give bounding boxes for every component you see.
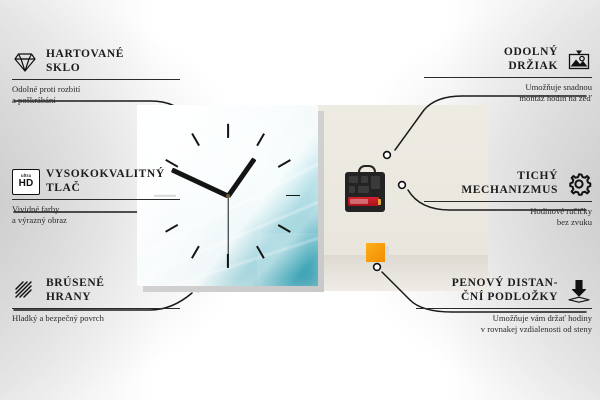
diamond-icon [12,49,38,75]
feature-description: Vividné farby a výrazný obraz [12,204,180,225]
foam-spacer-pad [366,243,385,262]
feature-description: Hladký a bezpečný povrch [12,313,180,324]
feature-divider [12,199,180,200]
feature-high-quality-print: ultraHD VYSOKOKVALITNÝ TLAČ Vividné farb… [12,168,180,225]
clock-hour-hand [225,157,255,198]
feature-title: PENOVÝ DISTAN- ČNÍ PODLOŽKY [452,277,558,304]
feature-foam-spacers: PENOVÝ DISTAN- ČNÍ PODLOŽKY Umožňuje vám… [416,277,592,334]
feature-tempered-glass: HARTOVANÉ SKLO Odolné proti rozbití a po… [12,48,180,105]
mechanism-battery [348,197,379,206]
feature-description: Umožňuje snadnou montáž hodin na zeď [424,82,592,103]
gear-icon [566,171,592,197]
feature-divider [12,308,180,309]
picture-frame-icon [566,47,592,73]
feature-divider [424,201,592,202]
infographic-canvas: HARTOVANÉ SKLO Odolné proti rozbití a po… [0,0,600,400]
connector-foam-spacers [374,264,381,271]
feature-title: HARTOVANÉ SKLO [46,48,124,75]
down-arrow-pad-icon [566,278,592,304]
clock-second-hand [227,196,228,268]
connector-durable-holder [384,152,391,159]
feature-description: Odolné proti rozbití a poškrábání [12,84,180,105]
feature-title: VYSOKOKVALITNÝ TLAČ [46,168,165,195]
feature-title: BRÚSENÉ HRANY [46,277,105,304]
feature-title: TICHÝ MECHANIZMUS [461,170,558,197]
feature-divider [416,308,592,309]
clock-center-hub [226,194,230,198]
clock-mechanism [345,172,385,212]
feature-divider [424,77,592,78]
feature-description: Hodinové ručičky bez zvuku [424,206,592,227]
feature-divider [12,79,180,80]
feature-description: Umožňuje vám držať hodiny v rovnakej vzd… [416,313,592,334]
connector-silent-mechanism [399,182,406,189]
mechanism-body [345,172,385,212]
feature-title: ODOLNÝ DRŽIAK [504,46,558,73]
ultra-hd-icon: ultraHD [12,169,38,195]
feature-durable-holder: ODOLNÝ DRŽIAK Umožňuje snadnou montáž ho… [424,46,592,103]
leader-line-durable-holder [395,96,586,150]
feature-silent-mechanism: TICHÝ MECHANIZMUS Hodinové ručičky bez z… [424,170,592,227]
polished-edges-icon [12,278,38,304]
feature-polished-edges: BRÚSENÉ HRANY Hladký a bezpečný povrch [12,277,180,324]
